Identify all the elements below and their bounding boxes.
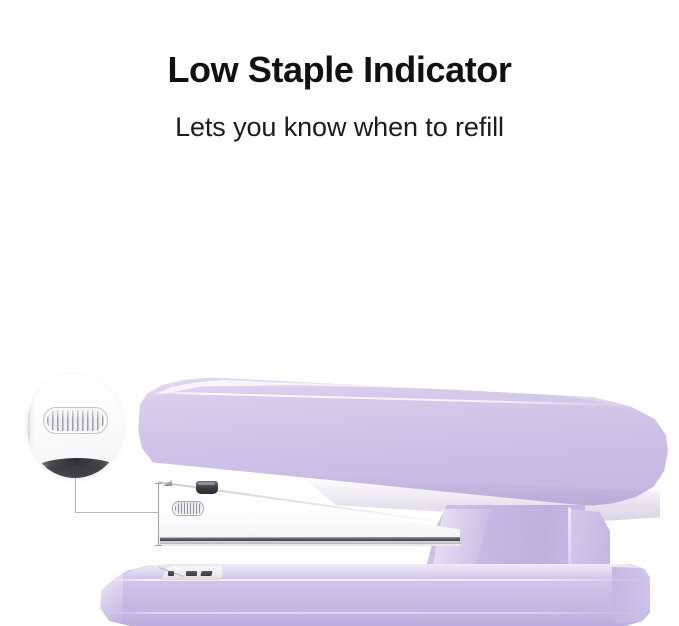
magazine-metal-strip-lower [160, 541, 462, 544]
low-staple-indicator-window [172, 501, 204, 516]
page-title: Low Staple Indicator [0, 50, 679, 90]
top-arm-front-tip [129, 401, 139, 479]
magazine-latch-highlight [198, 482, 215, 485]
magnified-body-left-seam [28, 384, 30, 458]
anvil-slot [168, 571, 174, 576]
magnified-window-gloss [44, 408, 107, 419]
product-feature-image: Low Staple Indicator Lets you know when … [0, 0, 679, 454]
page-subtitle: Lets you know when to refill [0, 112, 679, 143]
leader-line-horizontal [75, 512, 159, 513]
magnified-indicator-window [43, 407, 108, 434]
product-photo [0, 175, 679, 454]
target-bracket-bottom-cap [155, 545, 162, 546]
anvil-slot [186, 571, 197, 576]
magnified-bottom-shadow-core [31, 466, 121, 478]
target-bracket-top-cap [155, 483, 162, 484]
staple-row-stripes [175, 503, 202, 514]
target-bracket [158, 483, 159, 546]
anvil-slot [200, 571, 212, 576]
